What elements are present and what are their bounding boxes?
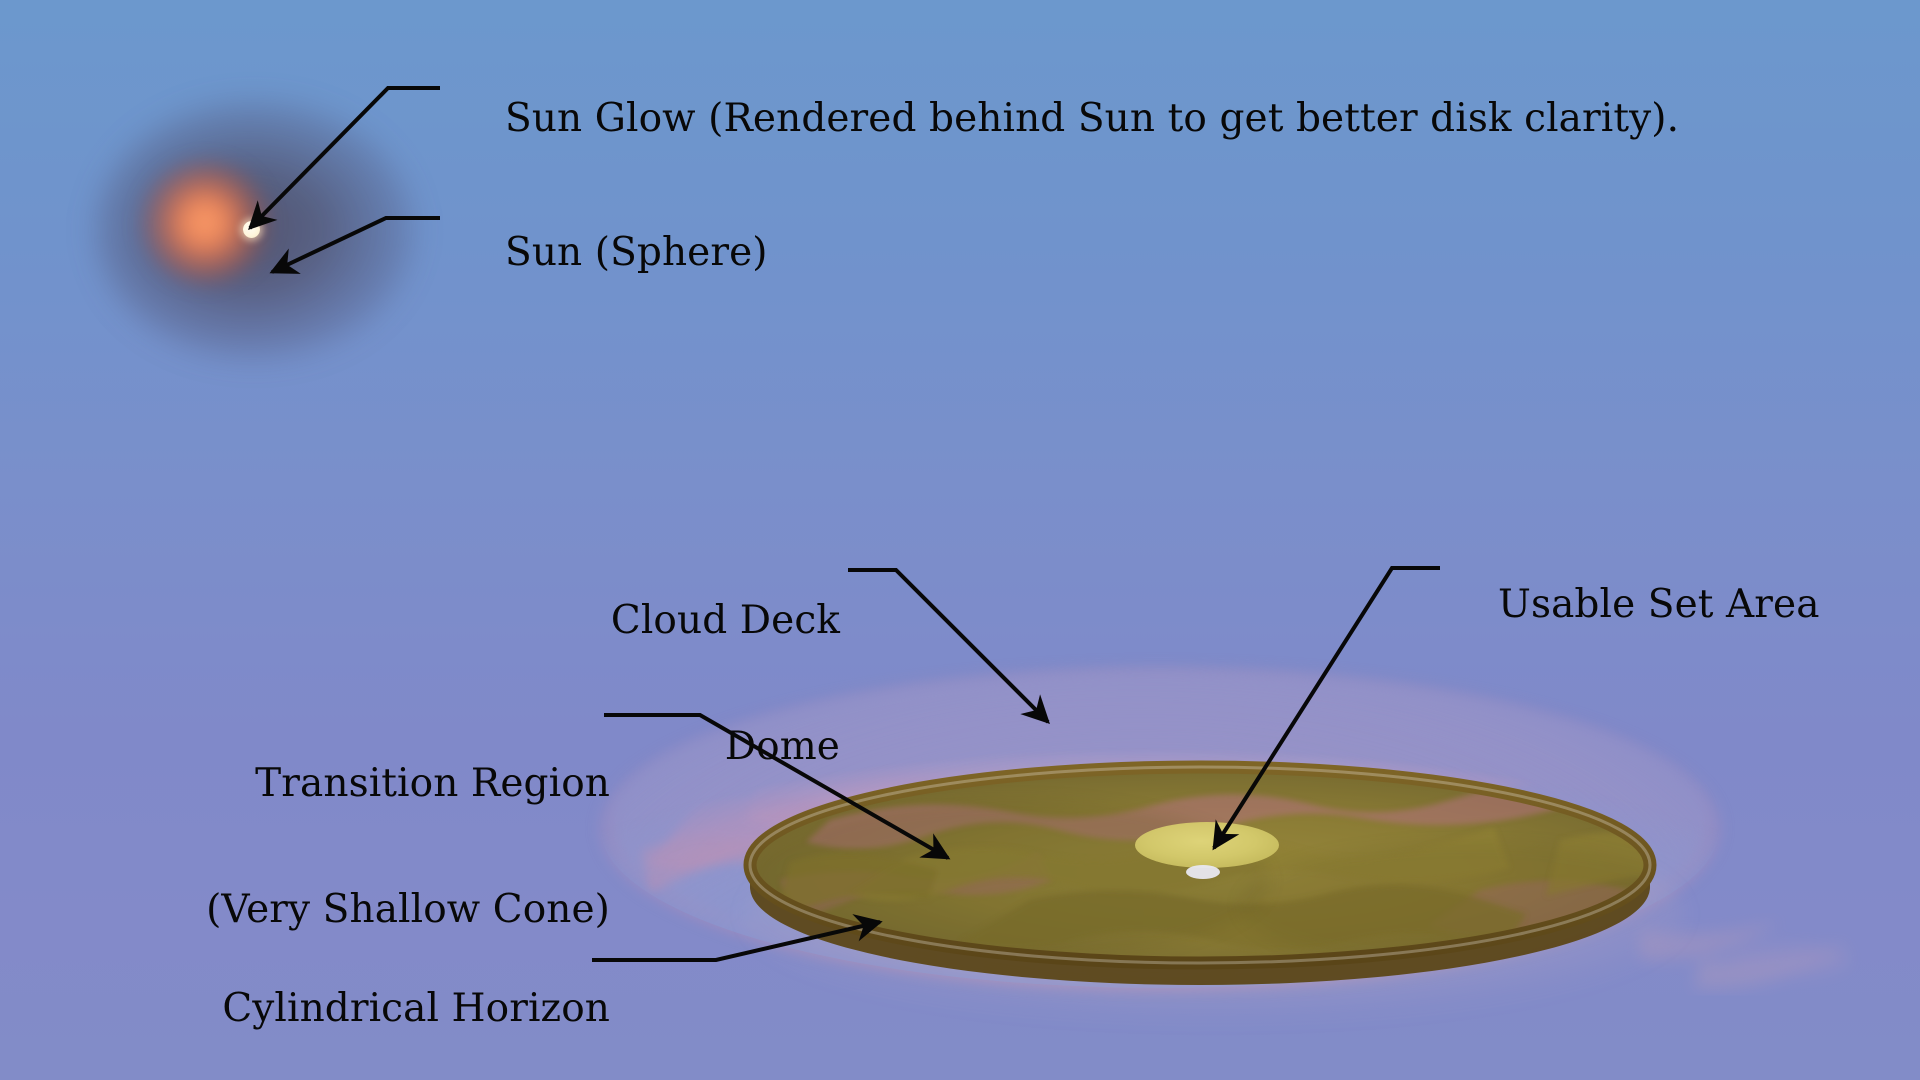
disk-rim (750, 767, 1650, 963)
label-cylindrical-horizon-backdrop: Cylindrical Horizon Backdrop (40, 905, 610, 1080)
label-usable-set-area: Usable Set Area (1448, 542, 1820, 667)
label-sun-glow: Sun Glow (Rendered behind Sun to get bet… (455, 56, 1679, 181)
disk-surface (750, 767, 1730, 967)
sun-sphere-dot (243, 221, 260, 238)
label-cloud-deck-line1: Cloud Deck (210, 600, 840, 642)
usable-area-ellipse (1135, 822, 1279, 868)
label-sun-glow-line1: Sun Glow (Rendered behind Sun to get bet… (505, 96, 1679, 141)
label-transition-line1: Transition Region (40, 763, 610, 805)
label-usable-set-area-line1: Usable Set Area (1498, 582, 1820, 627)
center-marker (1186, 865, 1220, 879)
leader-usable-set-area (1214, 568, 1440, 848)
cloud-dome-wisps (1640, 920, 1850, 989)
disk-rim-highlight (750, 767, 1650, 963)
disk-side-wall (750, 865, 1650, 985)
leader-cloud-deck-dome (848, 570, 1048, 722)
diagram-canvas: Sun Glow (Rendered behind Sun to get bet… (0, 0, 1920, 1080)
leader-cylindrical-horizon (592, 922, 880, 960)
label-sun-sphere-line1: Sun (Sphere) (505, 230, 768, 275)
label-sun-sphere: Sun (Sphere) (455, 190, 768, 315)
label-cylinder-line1: Cylindrical Horizon (40, 988, 610, 1030)
disk-under-glow (745, 805, 1685, 1025)
